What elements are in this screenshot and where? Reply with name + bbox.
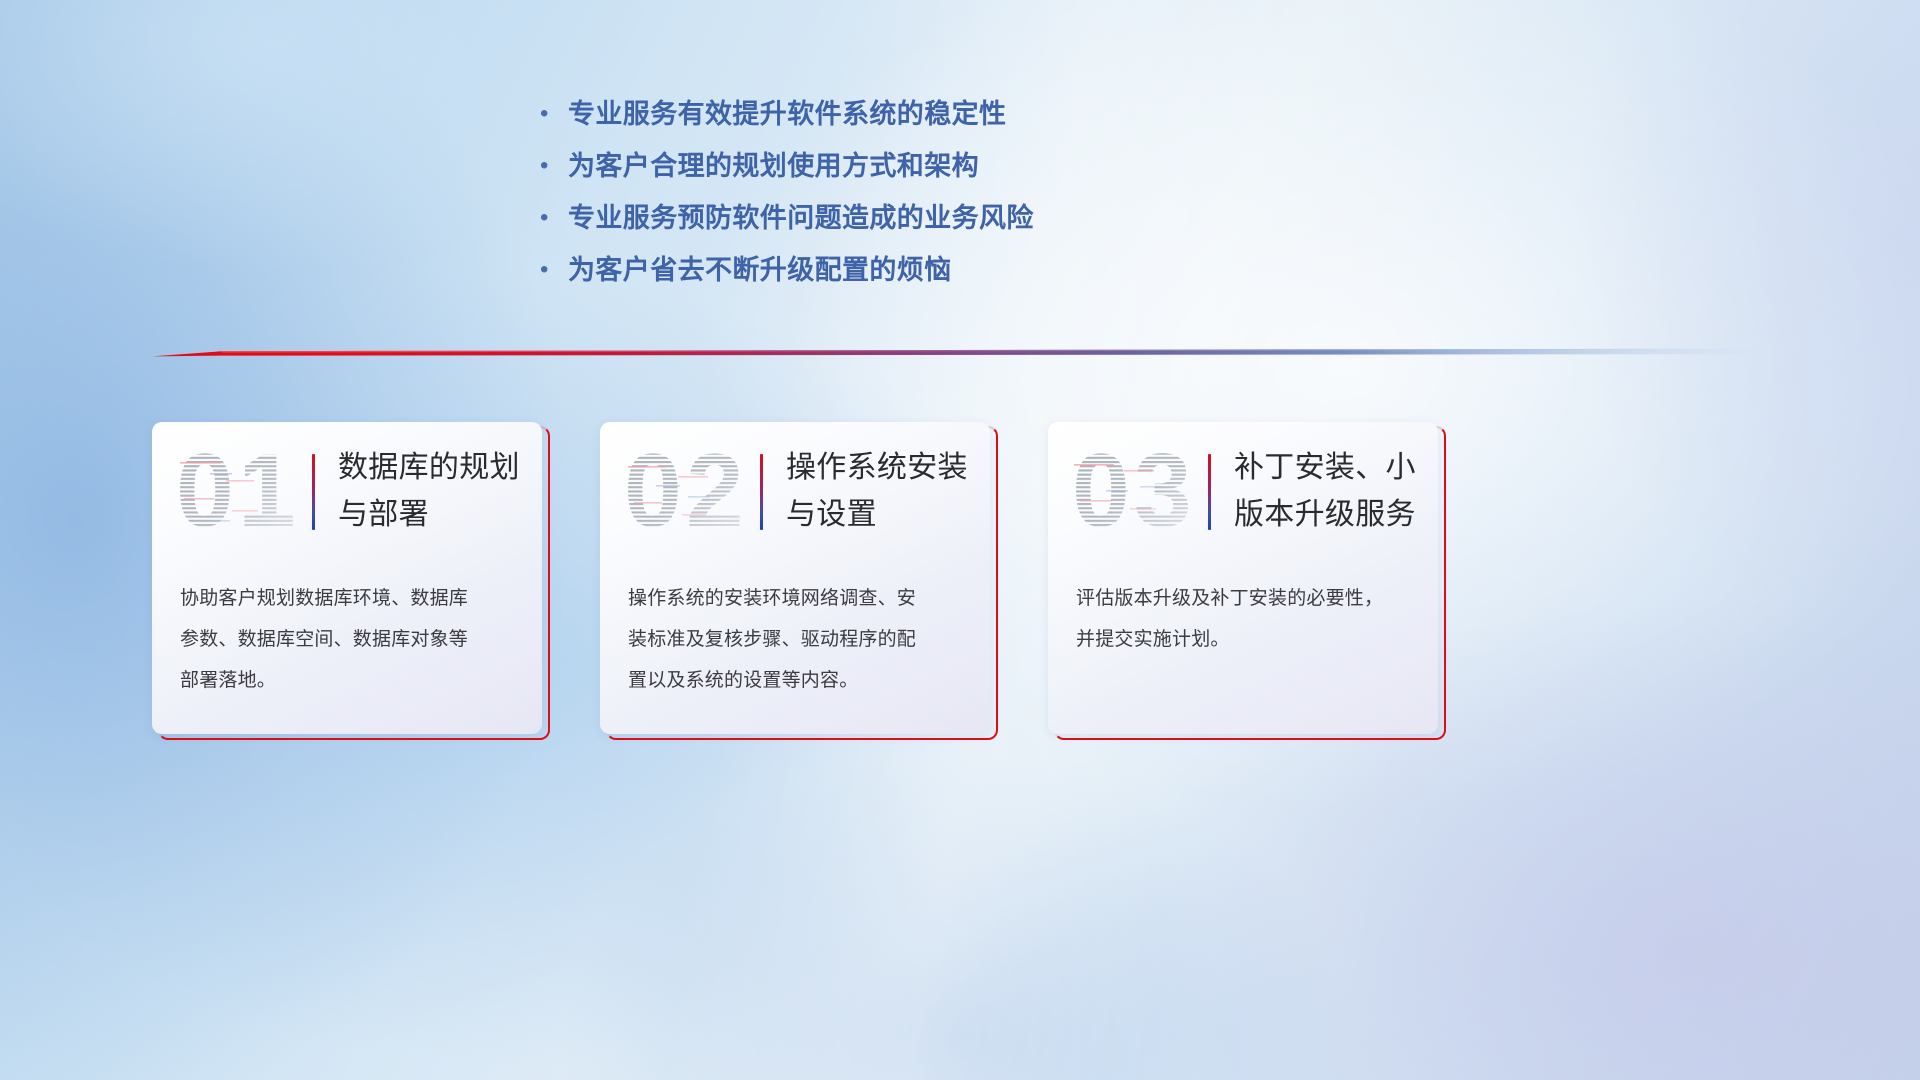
- bullet-item: • 为客户省去不断升级配置的烦恼: [540, 244, 1180, 296]
- service-card[interactable]: 03 补丁安装、小 版本升: [1048, 422, 1440, 740]
- striped-numeral-graphic: 03: [1070, 440, 1200, 544]
- card-description-line-1: 评估版本升级及补丁安装的必要性，: [1076, 578, 1416, 619]
- card-number-01-icon: 01: [174, 440, 304, 544]
- bullet-dot-icon: •: [540, 206, 568, 230]
- bullet-text: 为客户合理的规划使用方式和架构: [568, 140, 979, 192]
- bullet-dot-icon: •: [540, 258, 568, 282]
- card-number-02-icon: 02: [622, 440, 752, 544]
- svg-text:03: 03: [1072, 440, 1196, 544]
- card-title-divider: [1208, 454, 1211, 530]
- bullet-text: 为客户省去不断升级配置的烦恼: [568, 244, 952, 296]
- slide-canvas: • 专业服务有效提升软件系统的稳定性 • 为客户合理的规划使用方式和架构 • 专…: [0, 0, 1920, 1080]
- card-header: 03 补丁安装、小 版本升: [1048, 422, 1438, 562]
- card-title-divider: [760, 454, 763, 530]
- bullet-item: • 为客户合理的规划使用方式和架构: [540, 140, 1180, 192]
- bullet-text: 专业服务有效提升软件系统的稳定性: [568, 88, 1006, 140]
- service-card[interactable]: 02 操作系统安装 与设置: [600, 422, 992, 740]
- card-title-line-2: 与设置: [786, 491, 978, 538]
- bullet-text: 专业服务预防软件问题造成的业务风险: [568, 192, 1034, 244]
- card-number-03-icon: 03: [1070, 440, 1200, 544]
- card-description-line-1: 操作系统的安装环境网络调查、安: [628, 578, 968, 619]
- card-description-line-2: 参数、数据库空间、数据库对象等: [180, 619, 520, 660]
- card-description-line-3: 部署落地。: [180, 660, 520, 701]
- card-surface: 01 数据库的规划 与部署: [152, 422, 542, 734]
- card-description: 协助客户规划数据库环境、数据库 参数、数据库空间、数据库对象等 部署落地。: [180, 578, 520, 701]
- card-title: 数据库的规划 与部署: [338, 444, 530, 538]
- card-description-line-3: 置以及系统的设置等内容。: [628, 660, 968, 701]
- card-description-line-2: 装标准及复核步骤、驱动程序的配: [628, 619, 968, 660]
- divider-shape-icon: [152, 344, 1764, 360]
- striped-numeral-graphic: 01: [174, 440, 304, 544]
- bullet-item: • 专业服务有效提升软件系统的稳定性: [540, 88, 1180, 140]
- card-title: 补丁安装、小 版本升级服务: [1234, 444, 1426, 538]
- card-description-line-1: 协助客户规划数据库环境、数据库: [180, 578, 520, 619]
- card-title-line-1: 补丁安装、小: [1234, 444, 1426, 491]
- card-title-line-1: 数据库的规划: [338, 444, 530, 491]
- svg-text:02: 02: [624, 440, 748, 544]
- striped-numeral-graphic: 02: [622, 440, 752, 544]
- benefits-bullet-list: • 专业服务有效提升软件系统的稳定性 • 为客户合理的规划使用方式和架构 • 专…: [540, 88, 1180, 296]
- svg-text:01: 01: [176, 440, 300, 544]
- service-card[interactable]: 01 数据库的规划 与部署: [152, 422, 544, 740]
- card-description: 评估版本升级及补丁安装的必要性， 并提交实施计划。: [1076, 578, 1416, 660]
- card-header: 01 数据库的规划 与部署: [152, 422, 542, 562]
- card-title-divider: [312, 454, 315, 530]
- card-description: 操作系统的安装环境网络调查、安 装标准及复核步骤、驱动程序的配 置以及系统的设置…: [628, 578, 968, 701]
- card-title: 操作系统安装 与设置: [786, 444, 978, 538]
- card-description-line-2: 并提交实施计划。: [1076, 619, 1416, 660]
- section-divider: [152, 344, 1764, 360]
- service-card-row: 01 数据库的规划 与部署: [152, 422, 1770, 740]
- bullet-item: • 专业服务预防软件问题造成的业务风险: [540, 192, 1180, 244]
- card-surface: 02 操作系统安装 与设置: [600, 422, 990, 734]
- card-surface: 03 补丁安装、小 版本升: [1048, 422, 1438, 734]
- bullet-dot-icon: •: [540, 154, 568, 178]
- card-title-line-1: 操作系统安装: [786, 444, 978, 491]
- bullet-dot-icon: •: [540, 102, 568, 126]
- card-title-line-2: 版本升级服务: [1234, 491, 1426, 538]
- card-title-line-2: 与部署: [338, 491, 530, 538]
- card-header: 02 操作系统安装 与设置: [600, 422, 990, 562]
